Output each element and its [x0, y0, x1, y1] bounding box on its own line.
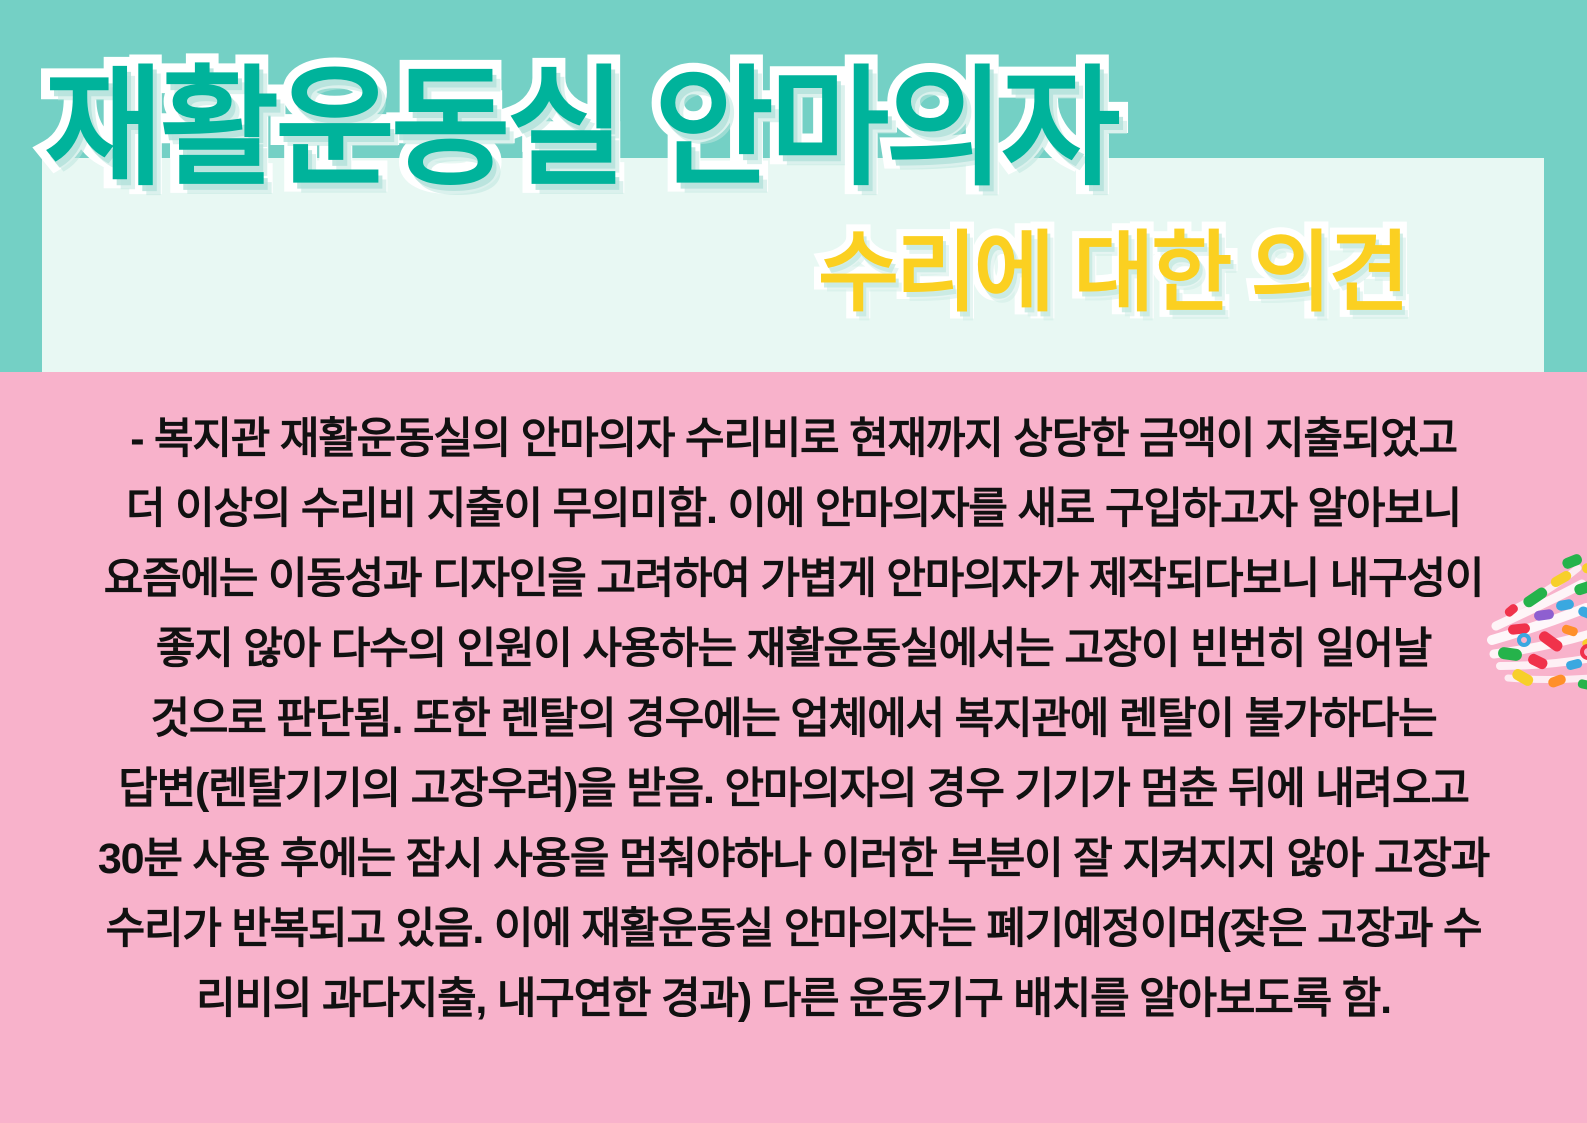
body-line: 답변(렌탈기기의 고장우려)을 받음. 안마의자의 경우 기기가 멈춘 뒤에 내… [0, 754, 1587, 824]
body-line: 것으로 판단됨. 또한 렌탈의 경우에는 업체에서 복지관에 렌탈이 불가하다는 [0, 684, 1587, 754]
headline-group: 재활운동실 안마의자 수리에 대한 의견 [0, 0, 1587, 372]
page-title-main: 재활운동실 안마의자 [44, 62, 1117, 195]
body-line: 좋지 않아 다수의 인원이 사용하는 재활운동실에서는 고장이 빈번히 일어날 [0, 614, 1587, 684]
body-line: 수리가 반복되고 있음. 이에 재활운동실 안마의자는 폐기예정이며(잦은 고장… [0, 894, 1587, 964]
body-text-block: - 복지관 재활운동실의 안마의자 수리비로 현재까지 상당한 금액이 지출되었… [0, 404, 1587, 1034]
body-line: - 복지관 재활운동실의 안마의자 수리비로 현재까지 상당한 금액이 지출되었… [0, 404, 1587, 474]
page-title-sub: 수리에 대한 의견 [818, 228, 1407, 318]
body-line: 리비의 과다지출, 내구연한 경과) 다른 운동기구 배치를 알아보도록 함. [0, 964, 1587, 1034]
poster-canvas: 재활운동실 안마의자 수리에 대한 의견 - 복지관 재활운동실의 안마의자 수… [0, 0, 1587, 1123]
body-line: 요즘에는 이동성과 디자인을 고려하여 가볍게 안마의자가 제작되다보니 내구성… [0, 544, 1587, 614]
body-line: 더 이상의 수리비 지출이 무의미함. 이에 안마의자를 새로 구입하고자 알아… [0, 474, 1587, 544]
body-line: 30분 사용 후에는 잠시 사용을 멈춰야하나 이러한 부분이 잘 지켜지지 않… [0, 824, 1587, 894]
